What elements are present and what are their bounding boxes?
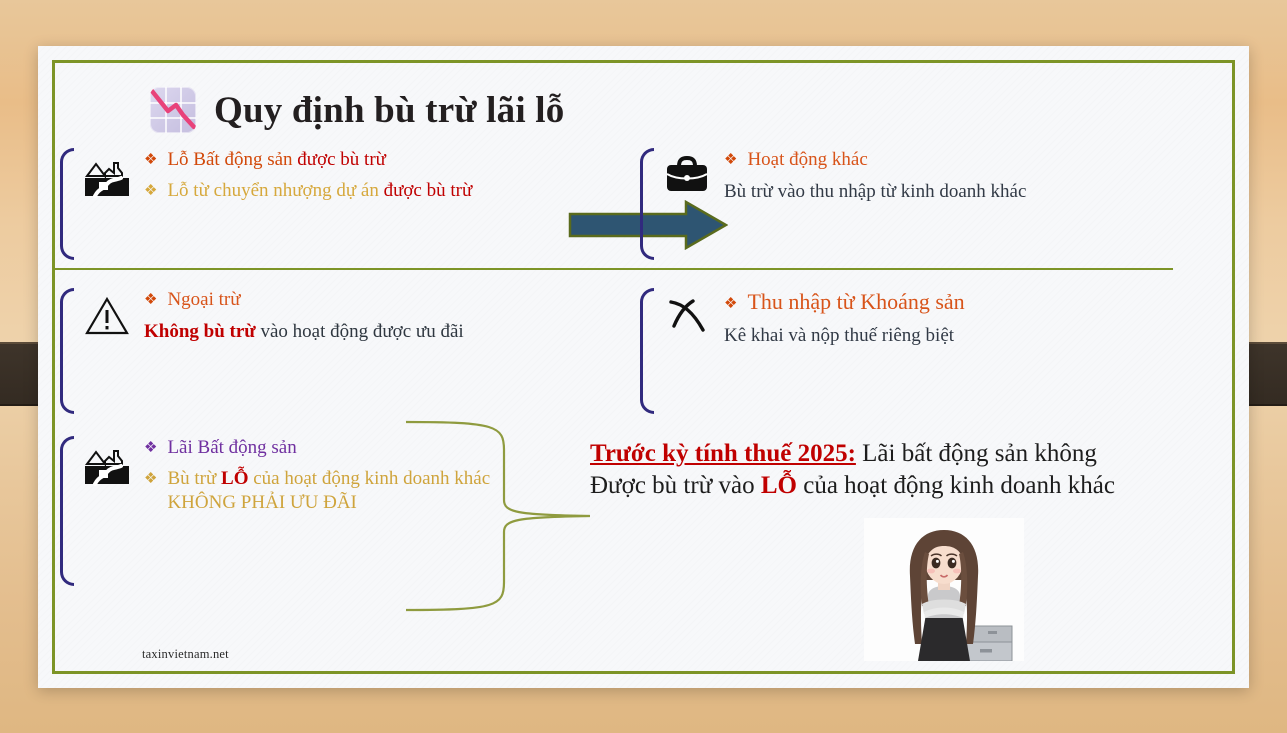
diamond-bullet-icon: ❖ — [144, 184, 157, 199]
block-body: ❖ Lỗ Bất động sản được bù trừ ❖ Lỗ từ ch… — [140, 148, 600, 209]
bullet-line: ❖ Lỗ từ chuyển nhượng dự án được bù trừ — [144, 179, 600, 204]
block-loss-realestate: ❖ Lỗ Bất động sản được bù trừ ❖ Lỗ từ ch… — [60, 148, 600, 260]
block-exception: ❖ Ngoại trừ Không bù trừ vào hoạt động đ… — [60, 288, 600, 414]
slide-content: Quy định bù trừ lãi lỗ ❖ Lỗ Bất động sản — [52, 60, 1235, 674]
houses-village-icon — [74, 148, 140, 198]
diamond-bullet-icon: ❖ — [724, 153, 737, 168]
diamond-bullet-icon: ❖ — [144, 472, 157, 487]
bullet-text-emphasis: được bù trừ — [384, 180, 473, 201]
woman-avatar-illustration — [864, 518, 1024, 661]
block-bracket — [60, 148, 74, 260]
block-bracket — [60, 288, 74, 414]
bullet-line: ❖ Ngoại trừ — [144, 288, 600, 313]
note-body-part2: của hoạt động kinh doanh khác — [797, 472, 1115, 499]
block-bracket — [640, 288, 654, 414]
footer-watermark: taxinvietnam.net — [142, 647, 229, 662]
block-heading: Thu nhập từ Khoáng sản — [747, 288, 964, 317]
title-row: Quy định bù trừ lãi lỗ — [70, 72, 1217, 144]
subtext-rest: vào hoạt động được ưu đãi — [256, 321, 464, 342]
block-bracket — [640, 148, 654, 260]
section-divider — [52, 268, 1173, 270]
bullet-text: Lãi Bất động sản — [167, 436, 296, 461]
block-bracket — [60, 436, 74, 586]
curly-brace-shape — [404, 416, 594, 621]
block-subtext: Kê khai và nộp thuế riêng biệt — [724, 325, 954, 346]
block-subtext: Không bù trừ vào hoạt động được ưu đãi — [144, 321, 464, 342]
diamond-bullet-icon: ❖ — [144, 153, 157, 168]
block-other-activity: ❖ Hoạt động khác Bù trừ vào thu nhập từ … — [640, 148, 1208, 260]
bullet-line: ❖ Lỗ Bất động sản được bù trừ — [144, 148, 600, 173]
diamond-bullet-icon: ❖ — [724, 297, 737, 312]
bullet-text: Lỗ từ chuyển nhượng dự án được bù trừ — [167, 179, 472, 204]
diamond-bullet-icon: ❖ — [144, 293, 157, 308]
line-chart-declining-icon — [150, 87, 196, 133]
block-body: ❖ Thu nhập từ Khoáng sản Kê khai và nộp … — [720, 288, 1208, 348]
block-subtext: Bù trừ vào thu nhập từ kinh doanh khác — [724, 181, 1026, 202]
block-heading: Ngoại trừ — [167, 288, 240, 313]
note-callout: Trước kỳ tính thuế 2025: Lãi bất động sả… — [590, 438, 1150, 502]
slide-card: Quy định bù trừ lãi lỗ ❖ Lỗ Bất động sản — [38, 46, 1249, 688]
bullet-text: Lỗ Bất động sản được bù trừ — [167, 148, 386, 173]
pickaxe-icon — [654, 288, 720, 338]
block-heading: Hoạt động khác — [747, 148, 867, 173]
warning-triangle-icon — [74, 288, 140, 336]
page-title: Quy định bù trừ lãi lỗ — [214, 89, 564, 132]
bullet-text-primary: Bù trừ — [167, 468, 221, 489]
note-lead: Trước kỳ tính thuế 2025: — [590, 440, 856, 467]
note-body-emphasis: LỖ — [761, 472, 797, 499]
block-body: ❖ Ngoại trừ Không bù trừ vào hoạt động đ… — [140, 288, 600, 344]
bullet-line: ❖ Hoạt động khác — [724, 148, 1208, 173]
houses-village-icon — [74, 436, 140, 486]
bullet-line: ❖ Thu nhập từ Khoáng sản — [724, 288, 1208, 317]
bullet-text-primary: Lỗ từ chuyển nhượng dự án — [167, 180, 383, 201]
block-body: ❖ Hoạt động khác Bù trừ vào thu nhập từ … — [720, 148, 1208, 204]
diamond-bullet-icon: ❖ — [144, 441, 157, 456]
subtext-emphasis: Không bù trừ — [144, 321, 256, 342]
bullet-text-emphasis: được bù trừ — [297, 149, 386, 170]
bullet-text-emphasis: LỖ — [221, 468, 248, 489]
briefcase-icon — [654, 148, 720, 196]
block-mineral: ❖ Thu nhập từ Khoáng sản Kê khai và nộp … — [640, 288, 1208, 414]
bullet-text-primary: Lỗ Bất động sản — [167, 149, 297, 170]
